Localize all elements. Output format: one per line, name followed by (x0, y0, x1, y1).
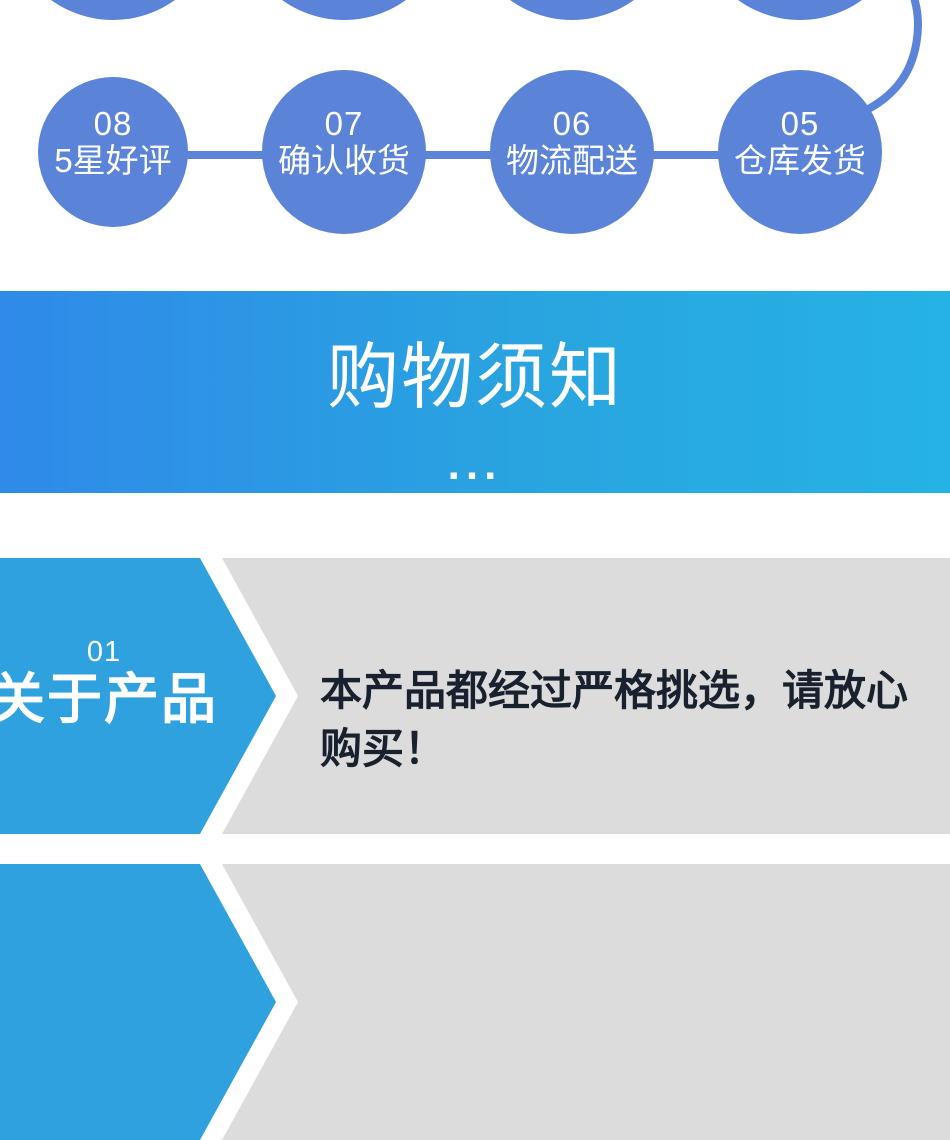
process-flow-graphic (0, 0, 950, 285)
flow-node-partial-2 (238, 0, 450, 20)
section-block-about-product: 01 关于产品 本产品都经过严格挑选，请放心购买！ (0, 558, 950, 834)
section-block-next (0, 864, 950, 1140)
flow-node-circle-06[interactable] (490, 70, 654, 234)
shopping-notice-title: 购物须知 (0, 337, 950, 419)
flow-node-partial-1 (7, 0, 219, 20)
arrow-blue-shape-1[interactable] (0, 558, 276, 834)
arrow-blue-shape-2[interactable] (0, 864, 276, 1140)
flow-node-partial-4 (694, 0, 906, 20)
arrow-banner-graphic-2 (0, 864, 950, 1140)
section-body-01: 本产品都经过严格挑选，请放心购买！ (320, 662, 928, 778)
flow-node-circle-05[interactable] (718, 70, 882, 234)
flow-node-circle-08[interactable] (38, 77, 188, 227)
shopping-notice-dots: ... (0, 443, 950, 487)
arrow-gray-panel-2 (222, 864, 950, 1140)
flow-node-circle-07[interactable] (262, 70, 426, 234)
process-flow-section: 08 5星好评 07 确认收货 06 物流配送 05 仓库发货 (0, 0, 950, 285)
flow-node-partial-3 (466, 0, 678, 20)
shopping-notice-banner: 购物须知 ... (0, 291, 950, 493)
